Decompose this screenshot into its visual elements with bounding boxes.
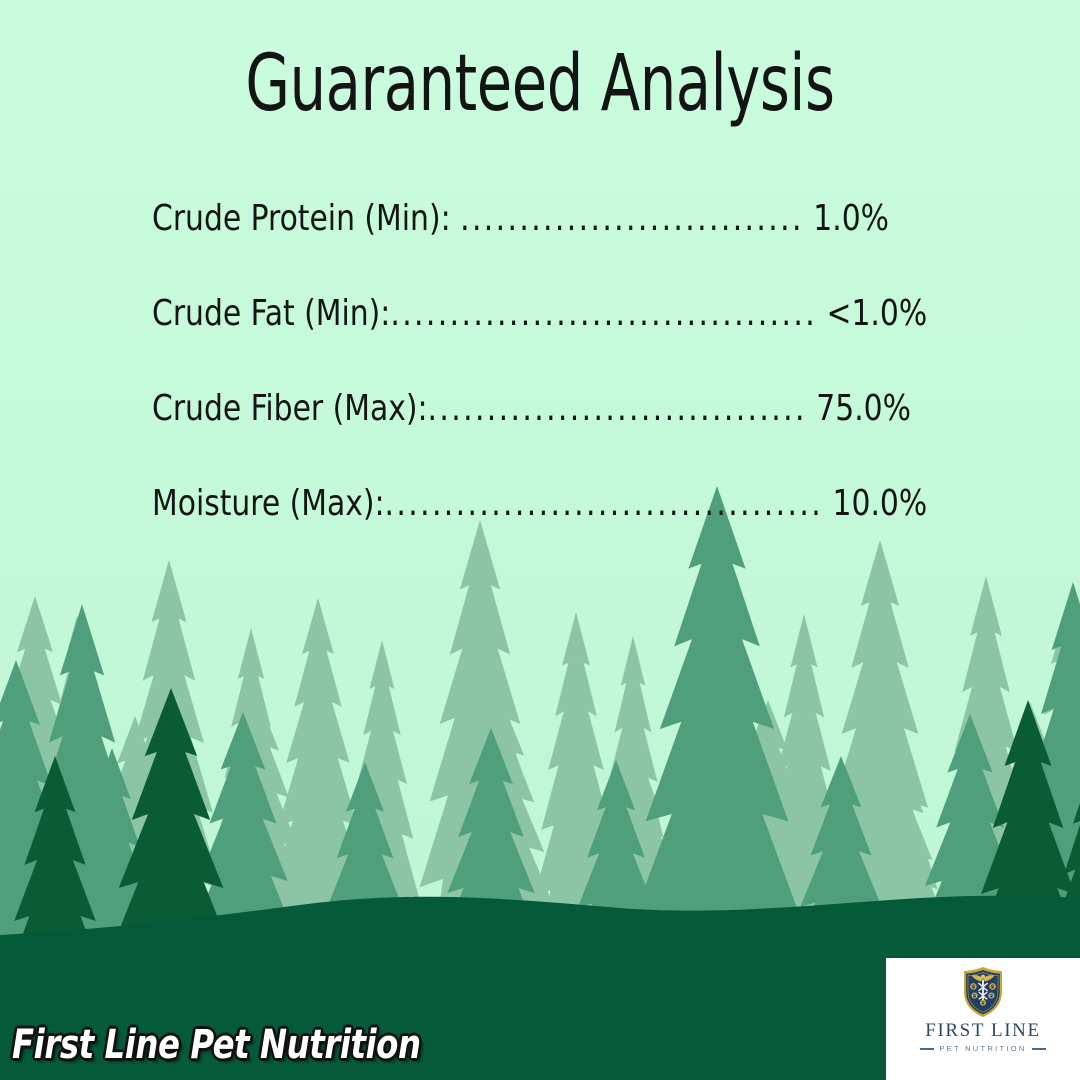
- brand-wordmark: First Line Pet Nutrition: [12, 1022, 421, 1068]
- logo-name: FIRST LINE: [925, 1021, 1040, 1040]
- analysis-row-crude-fat: Crude Fat (Min):........................…: [0, 293, 1080, 388]
- page-title: Guaranteed Analysis: [97, 44, 983, 126]
- analysis-label: Moisture (Max):: [152, 483, 385, 524]
- guaranteed-analysis-list: Crude Protein (Min): ...................…: [0, 198, 1080, 578]
- analysis-row-moisture: Moisture (Max):.........................…: [0, 483, 1080, 578]
- caduceus-shield-icon: [961, 966, 1005, 1018]
- analysis-leader-dots: .....................................: [385, 483, 824, 524]
- analysis-label: Crude Fiber (Max):: [152, 388, 428, 429]
- guaranteed-analysis-graphic: Guaranteed Analysis Crude Protein (Min):…: [0, 0, 1080, 1080]
- analysis-label: Crude Protein (Min):: [152, 198, 460, 239]
- analysis-leader-dots: .............................: [460, 198, 804, 239]
- brand-logo-card: FIRST LINE PET NUTRITION: [886, 958, 1080, 1080]
- analysis-value: <1.0%: [817, 293, 927, 334]
- analysis-label: Crude Fat (Min):: [152, 293, 390, 334]
- analysis-row-crude-protein: Crude Protein (Min): ...................…: [0, 198, 1080, 293]
- analysis-row-crude-fiber: Crude Fiber (Max):......................…: [0, 388, 1080, 483]
- analysis-value: 1.0%: [804, 198, 889, 239]
- logo-tagline-group: PET NUTRITION: [920, 1045, 1045, 1053]
- logo-tagline: PET NUTRITION: [939, 1045, 1026, 1053]
- analysis-leader-dots: ................................: [428, 388, 807, 429]
- analysis-leader-dots: ....................................: [390, 293, 817, 334]
- tagline-rule-left: [920, 1048, 934, 1050]
- analysis-value: 75.0%: [807, 388, 911, 429]
- tagline-rule-right: [1032, 1048, 1046, 1050]
- analysis-value: 10.0%: [823, 483, 927, 524]
